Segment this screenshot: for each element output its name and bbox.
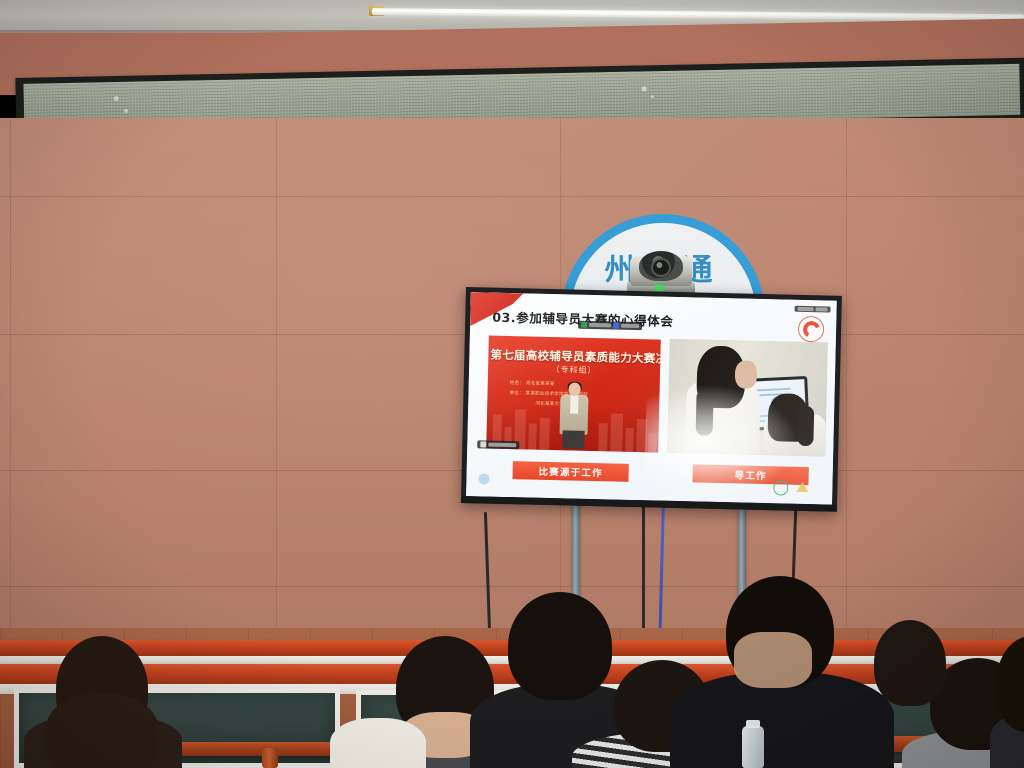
banner-building — [648, 432, 656, 452]
chip-bar-icon — [798, 307, 814, 311]
person-hair-fall — [46, 694, 158, 768]
presentation-slide: 03.参加辅导员大赛的心得体会 第七届高校辅导员素质能力大赛决赛 （专科组） 姓… — [466, 292, 837, 505]
chip-bar-icon — [816, 307, 828, 311]
chip-bar-icon — [621, 324, 639, 328]
banner-building — [539, 418, 550, 450]
audience-person-long-hair-left — [28, 636, 178, 768]
banner-detail-line: 姓名： 河北省某某某 — [510, 380, 555, 387]
wall-grout-line — [10, 118, 11, 638]
wall-grout-line — [276, 118, 277, 638]
wall-grout-line — [0, 196, 1024, 197]
audience-person-far-right — [996, 636, 1024, 768]
person-neck — [734, 632, 812, 688]
camera-status-led-icon — [655, 285, 663, 291]
lecture-hall-scene: 州交通 学院 03.参加辅导员大赛的心得体会 第七届高校辅导员素质能力大赛决赛 … — [0, 0, 1024, 768]
banner-building — [528, 424, 537, 450]
player-control-chip-left[interactable] — [477, 440, 519, 449]
slide-deco-dot-icon — [478, 473, 489, 484]
slide-caption-right: 导工作 — [692, 464, 808, 485]
presenter-figure — [558, 382, 590, 449]
chip-bar-icon — [488, 443, 516, 448]
led-speck — [124, 108, 128, 112]
led-speck — [641, 87, 646, 92]
banner-building — [598, 423, 608, 451]
tv-screen[interactable]: 03.参加辅导员大赛的心得体会 第七届高校辅导员素质能力大赛决赛 （专科组） 姓… — [466, 292, 837, 505]
banner-building — [625, 428, 634, 452]
banner-building — [610, 413, 623, 451]
wall-grout-line — [846, 118, 847, 638]
slide-brand-logo-icon — [798, 316, 825, 343]
chip-bar-icon — [589, 323, 611, 328]
person-hair — [996, 636, 1024, 732]
player-control-chip-center[interactable] — [578, 321, 642, 331]
lab-person-ponytail — [696, 389, 714, 435]
chip-dot-icon — [581, 322, 587, 328]
led-speck — [651, 96, 654, 99]
slide-deco-triangle-icon — [796, 482, 808, 492]
lab-person2-ponytail — [797, 406, 814, 446]
monitor-ui-line — [757, 388, 791, 392]
slide-deco-circle-icon — [773, 480, 788, 495]
person-white-top — [330, 718, 426, 768]
slide-photo-right — [667, 339, 828, 457]
logo-swirl-icon — [802, 320, 819, 337]
slide-photo-left: 第七届高校辅导员素质能力大赛决赛 （专科组） 姓名： 河北省某某某 单位： 某某… — [486, 336, 661, 453]
audience-person-back-row — [868, 620, 948, 710]
person-hair — [874, 620, 946, 706]
presenter-skirt — [562, 430, 584, 449]
audience-person-dark-suit — [694, 576, 870, 768]
chip-dot-icon — [480, 441, 486, 447]
ptz-camera-lens-icon — [651, 258, 671, 277]
audience-person-white-top-partial — [330, 700, 416, 768]
cable-black-center — [642, 504, 645, 644]
lab-person-face — [735, 360, 758, 389]
chair-post — [262, 748, 278, 768]
wall-mounted-tv[interactable]: 03.参加辅导员大赛的心得体会 第七届高校辅导员素质能力大赛决赛 （专科组） 姓… — [461, 287, 842, 512]
led-speck — [113, 96, 118, 101]
chip-dot-icon — [613, 322, 619, 328]
slide-caption-left: 比赛源于工作 — [512, 461, 628, 482]
water-bottle — [742, 726, 764, 768]
wall-grout-line — [0, 586, 1024, 587]
player-control-chip-topright[interactable] — [795, 306, 831, 313]
banner-building — [636, 419, 647, 452]
presenter-shirt — [570, 395, 578, 413]
